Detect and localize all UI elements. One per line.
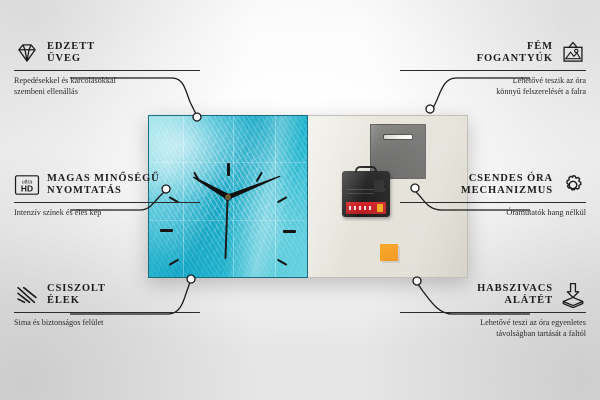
feature-silent-mechanism: CSENDES ÓRA MECHANIZMUS Óramutatók hang …	[400, 172, 586, 218]
feature-desc: Lehetővé teszi az óra egyenletes távolsá…	[400, 317, 586, 339]
feature-desc: Lehetővé teszik az óra könnyű felszerelé…	[400, 75, 586, 97]
feature-polished-edges: CSISZOLT ÉLEK Sima és biztonságos felüle…	[14, 282, 200, 328]
diamond-icon	[14, 40, 40, 66]
feature-divider	[14, 312, 200, 313]
mechanism-chip	[374, 180, 384, 192]
feature-high-quality-print: ultra HD MAGAS MINŐSÉGŰ NYOMTATÁS Intenz…	[14, 172, 200, 218]
feature-head: CSISZOLT ÉLEK	[14, 282, 200, 308]
mechanism-handle	[355, 166, 377, 173]
feature-tempered-glass: EDZETT ÜVEG Repedésekkel és karcolásokka…	[14, 40, 200, 97]
feature-foam-pad: HABSZIVACS ALÁTÉT Lehetővé teszi az óra …	[400, 282, 586, 339]
polished-edges-icon	[14, 282, 40, 308]
feature-head: CSENDES ÓRA MECHANIZMUS	[400, 172, 586, 198]
hanger-slot	[383, 134, 413, 140]
clock-minute-hand	[227, 173, 281, 199]
feature-head: HABSZIVACS ALÁTÉT	[400, 282, 586, 308]
feature-desc: Repedésekkel és karcolásokkal szembeni e…	[14, 75, 200, 97]
ultra-hd-icon: ultra HD	[14, 172, 40, 198]
feature-metal-handles: FÉM FOGANTYÚK Lehetővé teszik az óra kön…	[400, 40, 586, 97]
feature-title: CSISZOLT ÉLEK	[47, 283, 106, 308]
gear-icon	[560, 172, 586, 198]
feature-head: FÉM FOGANTYÚK	[400, 40, 586, 66]
svg-text:HD: HD	[21, 184, 33, 194]
foam-pad-icon	[560, 282, 586, 308]
feature-title: EDZETT ÜVEG	[47, 41, 95, 66]
feature-title: CSENDES ÓRA MECHANIZMUS	[461, 173, 553, 198]
feature-divider	[400, 70, 586, 71]
feature-divider	[14, 202, 200, 203]
connector-dot-handles	[426, 105, 434, 113]
clock-center-cap	[225, 194, 231, 200]
foam-pad-square	[380, 244, 398, 261]
feature-title: MAGAS MINŐSÉGŰ NYOMTATÁS	[47, 173, 160, 198]
feature-head: ultra HD MAGAS MINŐSÉGŰ NYOMTATÁS	[14, 172, 200, 198]
battery-label	[346, 202, 386, 214]
feature-desc: Sima és biztonságos felület	[14, 317, 200, 328]
infographic-canvas: EDZETT ÜVEG Repedésekkel és karcolásokka…	[0, 0, 600, 400]
clock-mechanism-box	[342, 171, 390, 217]
feature-divider	[400, 202, 586, 203]
mechanism-seam	[347, 193, 374, 194]
feature-divider	[400, 312, 586, 313]
feature-title: HABSZIVACS ALÁTÉT	[477, 283, 553, 308]
feature-desc: Intenzív színek és éles kép	[14, 207, 200, 218]
feature-desc: Óramutatók hang nélkül	[400, 207, 586, 218]
feature-title: FÉM FOGANTYÚK	[477, 41, 553, 66]
feature-head: EDZETT ÜVEG	[14, 40, 200, 66]
feature-divider	[14, 70, 200, 71]
picture-hanger-icon	[560, 40, 586, 66]
